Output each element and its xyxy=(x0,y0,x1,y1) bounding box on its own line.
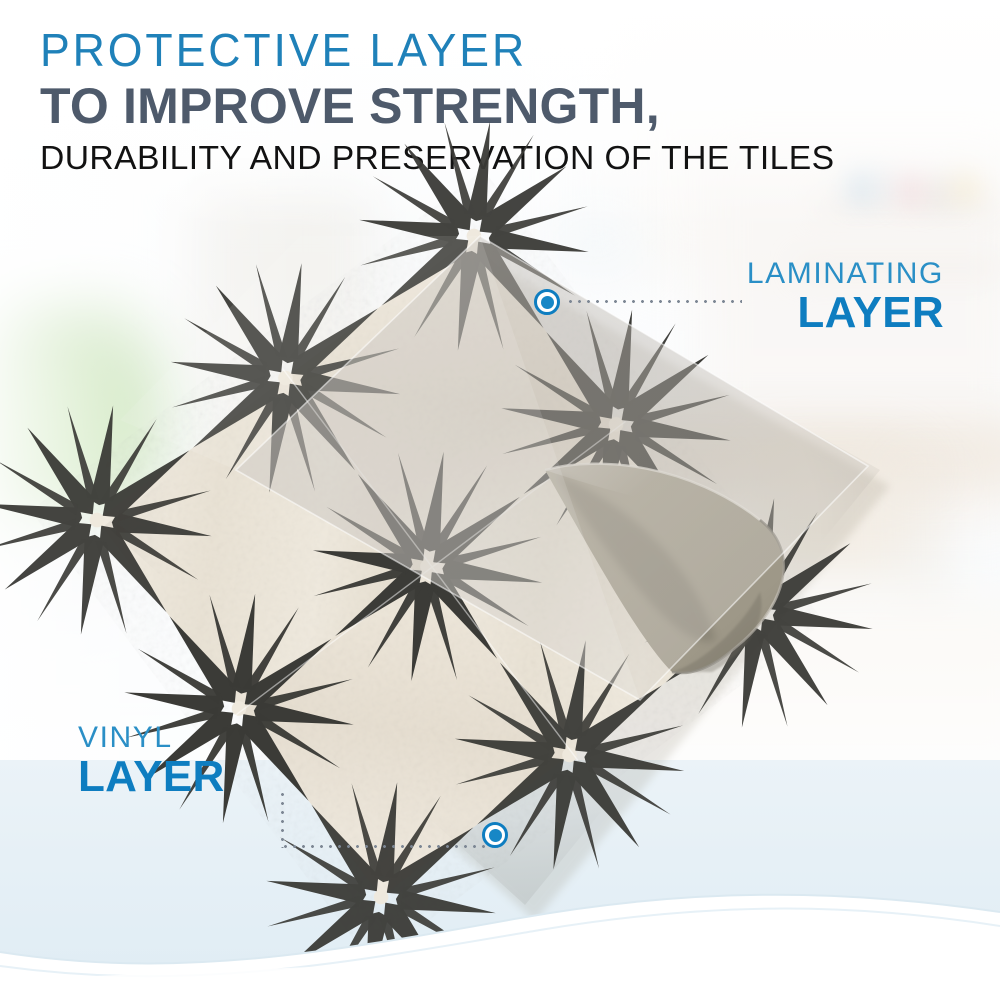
callout-laminating-sub: LAMINATING xyxy=(744,258,944,290)
infographic-canvas: PROTECTIVE LAYER TO IMPROVE STRENGTH, DU… xyxy=(0,0,1000,1000)
callout-vinyl-main: LAYER xyxy=(78,754,338,800)
bottom-wave-decoration xyxy=(0,860,1000,1000)
callout-laminating: LAMINATING LAYER xyxy=(744,258,944,336)
callout-vinyl-sub: VINYL xyxy=(78,722,338,754)
leader-line-laminating xyxy=(566,300,742,303)
callout-laminating-main: LAYER xyxy=(744,290,944,336)
leader-line-vinyl-vertical xyxy=(281,790,284,848)
leader-line-vinyl-horizontal xyxy=(281,845,485,848)
target-dot-marker-vinyl[interactable] xyxy=(482,822,508,848)
callout-vinyl: VINYL LAYER xyxy=(78,722,338,800)
product-illustration xyxy=(0,0,1000,1000)
target-dot-marker-laminating[interactable] xyxy=(534,289,560,315)
